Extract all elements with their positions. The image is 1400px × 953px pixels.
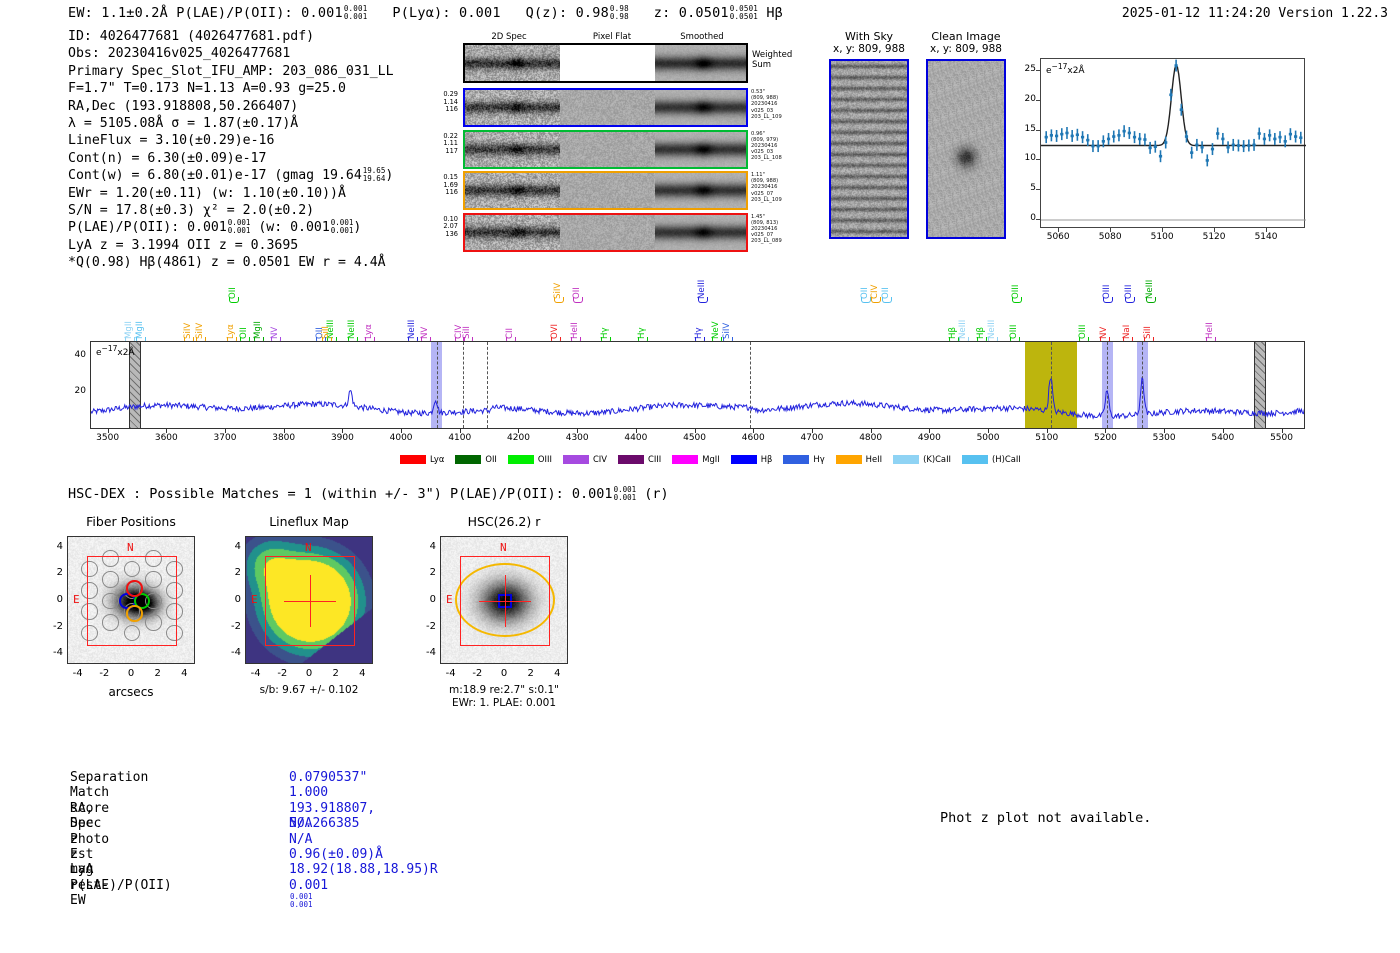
legend-swatch-Hγ bbox=[783, 455, 809, 464]
cutout-hsc-title: HSC(26.2) r bbox=[410, 514, 598, 529]
match-value-6: 18.92(18.88,18.95)R bbox=[289, 862, 438, 877]
full-xtick-mark bbox=[695, 429, 696, 433]
weighted-sum-2dspec bbox=[465, 45, 560, 81]
cutout-hsc-ytick-0: 0 bbox=[416, 594, 436, 605]
spec2d-row-2-info: 1.11"(809, 988)20230416v025_07203_LL_109 bbox=[751, 172, 811, 203]
full-xtick-mark bbox=[636, 429, 637, 433]
zoom-xtick-mark bbox=[1162, 228, 1163, 232]
plae-ratio-bounds: 0.0010.001 bbox=[344, 5, 368, 21]
full-xtick-3700: 3700 bbox=[200, 433, 250, 443]
full-xtick-mark bbox=[518, 429, 519, 433]
hscdex-header: HSC-DEX : Possible Matches = 1 (within +… bbox=[68, 486, 669, 502]
match-key-7: P(LAE)/P(OII) bbox=[70, 878, 172, 893]
spec2d-row-0-2dspec bbox=[465, 90, 560, 125]
zoom-ytick-mark bbox=[1036, 70, 1040, 71]
line-label-OII-31: OII bbox=[881, 249, 891, 299]
header-summary: EW: 1.1±0.2Å P(LAE)/P(OII): 0.0010.0010.… bbox=[68, 5, 783, 21]
zoom-ytick-20: 20 bbox=[1018, 94, 1036, 104]
cutout-clean-title: Clean Image bbox=[896, 30, 1036, 43]
cutout-hsc-compass-n: N bbox=[500, 541, 507, 554]
cutout-clean-image bbox=[926, 59, 1006, 239]
cutout-lineflux-xtick-4: 4 bbox=[346, 668, 378, 679]
cutout-lineflux-image: NE bbox=[245, 536, 373, 664]
spec2d-col-title-0: 2D Spec bbox=[464, 32, 554, 42]
legend-item-(K)CaII: (K)CaII bbox=[893, 454, 951, 464]
legend-label-HeII: HeII bbox=[866, 454, 882, 464]
zoom-ytick-5: 5 bbox=[1018, 183, 1036, 193]
spec2d-col-title-1: Pixel Flat bbox=[567, 32, 657, 42]
full-xtick-mark bbox=[166, 429, 167, 433]
detection-info-block: ID: 4026477681 (4026477681.pdf)Obs: 2023… bbox=[68, 28, 394, 272]
cutout-fiber-title: Fiber Positions bbox=[37, 514, 225, 529]
cutout-hsc-caption2: EWr: 1. PLAE: 0.001 bbox=[404, 697, 604, 710]
full-xtick-5200: 5200 bbox=[1080, 433, 1130, 443]
full-xtick-4100: 4100 bbox=[435, 433, 485, 443]
full-xtick-mark bbox=[1164, 429, 1165, 433]
full-ytick-40: 40 bbox=[64, 350, 86, 360]
full-xtick-4200: 4200 bbox=[493, 433, 543, 443]
zoom-xtick-5120: 5120 bbox=[1192, 232, 1236, 242]
header-z-line: Hβ bbox=[766, 5, 783, 21]
full-ytick-20: 20 bbox=[64, 386, 86, 396]
line-label-NeIII-35: NeIII bbox=[987, 289, 997, 339]
full-xtick-mark bbox=[460, 429, 461, 433]
line-label-SiIV-2: SiIV bbox=[183, 289, 193, 339]
hscdex-plae-bounds: 0.0010.001 bbox=[614, 486, 637, 502]
line-label-HeII-22: HeII bbox=[570, 289, 580, 339]
zoom-ytick-0: 0 bbox=[1018, 213, 1036, 223]
spec2d-row-3-smoothed bbox=[655, 215, 746, 250]
line-label-SiII-44: SiII bbox=[1143, 289, 1153, 339]
zoom-units-label: e−17x2Å bbox=[1046, 62, 1085, 76]
full-xtick-5500: 5500 bbox=[1257, 433, 1307, 443]
match-value-3: N/A bbox=[289, 816, 312, 831]
spec2d-row-0 bbox=[463, 88, 748, 127]
cutout-lineflux-compass-e: E bbox=[251, 593, 258, 606]
weighted-sum-pixelflat bbox=[560, 45, 655, 81]
full-xtick-3600: 3600 bbox=[141, 433, 191, 443]
cutout-lineflux-ytick--2: -2 bbox=[221, 621, 241, 632]
cutout-lineflux-fov-box bbox=[265, 556, 355, 646]
line-label-Hβ-34: Hβ bbox=[976, 289, 986, 339]
legend-label-OII: OII bbox=[485, 454, 497, 464]
cutout-hsc-ytick--2: -2 bbox=[416, 621, 436, 632]
spec2d-row-2-smoothed bbox=[655, 173, 746, 208]
header-plya: P(Lyα): 0.001 bbox=[392, 5, 500, 21]
info-line-9: EWr = 1.20(±0.11) (w: 1.10(±0.10))Å bbox=[68, 185, 394, 202]
full-xtick-4700: 4700 bbox=[787, 433, 837, 443]
header-z: z: 0.0501 bbox=[654, 5, 729, 21]
line-label-MgII-0: MgII bbox=[124, 289, 134, 339]
legend-label-OIII: OIII bbox=[538, 454, 552, 464]
full-xtick-mark bbox=[284, 429, 285, 433]
cutout-lineflux-ytick-0: 0 bbox=[221, 594, 241, 605]
full-xtick-mark bbox=[1105, 429, 1106, 433]
line-label-NV-8: NV bbox=[270, 289, 280, 339]
line-label-NV-40: NV bbox=[1099, 289, 1109, 339]
zoom-xtick-5080: 5080 bbox=[1088, 232, 1132, 242]
info-line-8: Cont(w) = 6.80(±0.01)e-17 (gmag 19.6419.… bbox=[68, 167, 394, 184]
legend-swatch-Hβ bbox=[731, 455, 757, 464]
full-xtick-4000: 4000 bbox=[376, 433, 426, 443]
zoom-ytick-mark bbox=[1036, 159, 1040, 160]
cutout-fiber-image: NE bbox=[67, 536, 195, 664]
zoom-xtick-5100: 5100 bbox=[1140, 232, 1184, 242]
full-xtick-4900: 4900 bbox=[904, 433, 954, 443]
info-line-4: RA,Dec (193.918808,50.266407) bbox=[68, 98, 394, 115]
full-xtick-3900: 3900 bbox=[317, 433, 367, 443]
cutout-lineflux-caption: s/b: 9.67 +/- 0.102 bbox=[209, 684, 409, 697]
legend-label-(H)CaII: (H)CaII bbox=[992, 454, 1021, 464]
cutout-fiber-ytick-0: 0 bbox=[43, 594, 63, 605]
full-xtick-3800: 3800 bbox=[259, 433, 309, 443]
full-xtick-4300: 4300 bbox=[552, 433, 602, 443]
full-xtick-3500: 3500 bbox=[83, 433, 133, 443]
legend-label-(K)CaII: (K)CaII bbox=[923, 454, 951, 464]
zoom-xtick-mark bbox=[1110, 228, 1111, 232]
spec2d-row-0-smoothed bbox=[655, 90, 746, 125]
cutout-fiber-fov-box bbox=[87, 556, 177, 646]
line-label-SiIV-28: SiIV bbox=[722, 289, 732, 339]
legend-item-Hγ: Hγ bbox=[783, 454, 824, 464]
legend-label-CIV: CIV bbox=[593, 454, 607, 464]
zoom-ytick-25: 25 bbox=[1018, 64, 1036, 74]
zoom-xtick-mark bbox=[1214, 228, 1215, 232]
zoom-xtick-5140: 5140 bbox=[1244, 232, 1288, 242]
timestamp-version: 2025-01-12 11:24:20 Version 1.22.3 bbox=[1122, 6, 1388, 21]
legend-label-Hβ: Hβ bbox=[761, 454, 773, 464]
legend-item-HeII: HeII bbox=[836, 454, 882, 464]
full-xtick-mark bbox=[929, 429, 930, 433]
line-label-CIV-30: CIV bbox=[870, 249, 880, 299]
zoom-ytick-mark bbox=[1036, 100, 1040, 101]
cutout-hsc-xtick-4: 4 bbox=[541, 668, 573, 679]
zoom-ytick-mark bbox=[1036, 189, 1040, 190]
line-label-NaI-42: NaI bbox=[1122, 289, 1132, 339]
cutout-fiber-ytick--4: -4 bbox=[43, 647, 63, 658]
spec2d-row-3-pixelflat bbox=[560, 215, 655, 250]
line-label-OII-29: OII bbox=[860, 249, 870, 299]
legend-label-MgII: MgII bbox=[702, 454, 719, 464]
info-line-10: S/N = 17.8(±0.3) χ² = 2.0(±0.2) bbox=[68, 202, 394, 219]
cutout-fiber-ytick-2: 2 bbox=[43, 567, 63, 578]
cutout-fiber-ytick--2: -2 bbox=[43, 621, 63, 632]
full-xtick-mark bbox=[871, 429, 872, 433]
line-label-OIII-37: OIII bbox=[1009, 289, 1019, 339]
line-label-Lyα-13: Lyα bbox=[364, 289, 374, 339]
match-value-4: N/A bbox=[289, 832, 312, 847]
spec2d-row-3-info: 1.45"(809, 813)20230416v025_07203_LL_089 bbox=[751, 214, 811, 245]
weighted-sum-smoothed bbox=[655, 45, 746, 81]
legend-item-MgII: MgII bbox=[672, 454, 719, 464]
line-label-NeIII-12: NeIII bbox=[347, 289, 357, 339]
info-line-5: λ = 5105.08Å σ = 1.87(±0.17)Å bbox=[68, 115, 394, 132]
line-label-SiII-11: SiII bbox=[321, 289, 331, 339]
legend-swatch-(H)CaII bbox=[962, 455, 988, 464]
line-label-NeIII-33: NeIII bbox=[958, 289, 968, 339]
legend-label-CIII: CIII bbox=[648, 454, 661, 464]
line-label-SiII-17: SiII bbox=[462, 289, 472, 339]
match-key-6: mag bbox=[70, 862, 93, 877]
full-spectrum-trace bbox=[91, 342, 1305, 429]
full-xtick-mark bbox=[401, 429, 402, 433]
spec2d-row-0-info: 0.53"(809, 988)20230416v025_03203_LL_109 bbox=[751, 89, 811, 120]
line-label-HeII-45: HeII bbox=[1205, 289, 1215, 339]
spec2d-row-3-metrics: 0.102.07136 bbox=[418, 216, 458, 239]
photz-note: Phot z plot not available. bbox=[940, 810, 1151, 826]
spec2d-row-0-metrics: 0.291.14116 bbox=[418, 91, 458, 114]
spec2d-row-2-pixelflat bbox=[560, 173, 655, 208]
full-xtick-mark bbox=[988, 429, 989, 433]
qz-bounds: 0.980.98 bbox=[610, 5, 629, 21]
hscdex-filter: (r) bbox=[644, 486, 668, 502]
legend-item-OIII: OIII bbox=[508, 454, 552, 464]
full-xtick-mark bbox=[342, 429, 343, 433]
line-label-MgII-7: MgII bbox=[253, 289, 263, 339]
full-xtick-5400: 5400 bbox=[1198, 433, 1248, 443]
full-xtick-mark bbox=[753, 429, 754, 433]
cutout-clean-coords: x, y: 809, 988 bbox=[896, 43, 1036, 55]
legend-swatch-(K)CaII bbox=[893, 455, 919, 464]
spec2d-row-1-smoothed bbox=[655, 132, 746, 167]
line-label-SiIV-3: SiIV bbox=[195, 289, 205, 339]
legend-item-Hβ: Hβ bbox=[731, 454, 773, 464]
line-label-OVI-20: OVI bbox=[550, 289, 560, 339]
full-xtick-mark bbox=[1282, 429, 1283, 433]
legend-item-Lyα: Lyα bbox=[400, 454, 444, 464]
weighted-sum-row bbox=[463, 43, 748, 83]
legend-swatch-HeII bbox=[836, 455, 862, 464]
match-value-0: 0.0790537" bbox=[289, 770, 367, 785]
full-units-label: e−17x2Å bbox=[96, 344, 135, 358]
full-xtick-5100: 5100 bbox=[1022, 433, 1072, 443]
legend-label-Hγ: Hγ bbox=[813, 454, 824, 464]
z-bounds: 0.05010.0501 bbox=[730, 5, 758, 21]
line-label-MgII-1: MgII bbox=[135, 289, 145, 339]
line-label-OIII-38: OIII bbox=[1078, 289, 1088, 339]
cutout-fiber-xlabel: arcsecs bbox=[47, 686, 215, 699]
match-value-1: 1.000 bbox=[289, 785, 328, 800]
legend-item-CIII: CIII bbox=[618, 454, 661, 464]
spec2d-row-1-pixelflat bbox=[560, 132, 655, 167]
cutout-lineflux-ytick-2: 2 bbox=[221, 567, 241, 578]
cutout-lineflux-ytick-4: 4 bbox=[221, 541, 241, 552]
line-label-Hγ-26: Hγ bbox=[694, 289, 704, 339]
legend-swatch-OII bbox=[455, 455, 481, 464]
weighted-sum-label: WeightedSum bbox=[752, 50, 792, 70]
zoom-xtick-mark bbox=[1266, 228, 1267, 232]
line-label-Hγ-24: Hγ bbox=[637, 289, 647, 339]
match-value-7: 0.0010.0010.001 bbox=[289, 878, 328, 909]
legend-swatch-CIV bbox=[563, 455, 589, 464]
info-line-2: Primary Spec_Slot_IFU_AMP: 203_086_031_L… bbox=[68, 63, 394, 80]
zoom-xtick-mark bbox=[1058, 228, 1059, 232]
legend-item-CIV: CIV bbox=[563, 454, 607, 464]
line-label-NeV-27: NeV bbox=[711, 289, 721, 339]
legend-item-(H)CaII: (H)CaII bbox=[962, 454, 1021, 464]
info-line-3: F=1.7" T=0.173 N=1.13 A=0.93 g=25.0 bbox=[68, 80, 394, 97]
spectrum-legend: LyαOIIOIIICIVCIIIMgIIHβHγHeII(K)CaII(H)C… bbox=[400, 454, 1032, 464]
line-bracket-31 bbox=[882, 297, 892, 303]
info-line-7: Cont(n) = 6.30(±0.09)e-17 bbox=[68, 150, 394, 167]
match-value-5: 0.96(±0.09)Å bbox=[289, 847, 383, 862]
info-line-0: ID: 4026477681 (4026477681.pdf) bbox=[68, 28, 394, 45]
cutout-hsc-fov-box bbox=[460, 556, 550, 646]
legend-swatch-CIII bbox=[618, 455, 644, 464]
match-key-0: Separation bbox=[70, 770, 148, 785]
full-xtick-mark bbox=[1047, 429, 1048, 433]
legend-swatch-Lyα bbox=[400, 455, 426, 464]
cutout-fiber-compass-n: N bbox=[127, 541, 134, 554]
info-line-11: P(LAE)/P(OII): 0.0010.0010.001 (w: 0.001… bbox=[68, 219, 394, 236]
info-line-1: Obs: 20230416v025_4026477681 bbox=[68, 45, 394, 62]
full-xtick-5300: 5300 bbox=[1139, 433, 1189, 443]
cutout-hsc-ytick-4: 4 bbox=[416, 541, 436, 552]
zoom-ytick-15: 15 bbox=[1018, 124, 1036, 134]
cutout-hsc-ytick-2: 2 bbox=[416, 567, 436, 578]
legend-label-Lyα: Lyα bbox=[430, 454, 444, 464]
full-xtick-mark bbox=[1223, 429, 1224, 433]
spec2d-row-1 bbox=[463, 130, 748, 169]
line-label-Hβ-32: Hβ bbox=[948, 289, 958, 339]
zoom-ytick-mark bbox=[1036, 219, 1040, 220]
full-xtick-5000: 5000 bbox=[963, 433, 1013, 443]
line-label-CII-18: CII bbox=[505, 289, 515, 339]
cutout-hsc-compass-e: E bbox=[446, 593, 453, 606]
spec2d-row-3 bbox=[463, 213, 748, 252]
legend-swatch-OIII bbox=[508, 455, 534, 464]
zoom-spectrum-data bbox=[1041, 59, 1306, 229]
spec2d-row-2 bbox=[463, 171, 748, 210]
full-spectrum-plot bbox=[90, 341, 1305, 429]
line-label-NV-15: NV bbox=[420, 289, 430, 339]
full-xtick-mark bbox=[577, 429, 578, 433]
zoom-xtick-5060: 5060 bbox=[1036, 232, 1080, 242]
spec2d-row-0-pixelflat bbox=[560, 90, 655, 125]
full-xtick-4400: 4400 bbox=[611, 433, 661, 443]
full-xtick-mark bbox=[812, 429, 813, 433]
full-xtick-4500: 4500 bbox=[670, 433, 720, 443]
info-line-6: LineFlux = 3.10(±0.29)e-16 bbox=[68, 132, 394, 149]
zoom-spectrum-plot bbox=[1040, 58, 1305, 228]
spec2d-row-2-2dspec bbox=[465, 173, 560, 208]
line-label-NeIII-14: NeIII bbox=[407, 289, 417, 339]
cutout-sky-image bbox=[829, 59, 909, 239]
spec2d-row-3-2dspec bbox=[465, 215, 560, 250]
cutout-fiber-compass-e: E bbox=[73, 593, 80, 606]
cutout-lineflux-title: Lineflux Map bbox=[215, 514, 403, 529]
spec2d-col-title-2: Smoothed bbox=[657, 32, 747, 42]
zoom-ytick-10: 10 bbox=[1018, 153, 1036, 163]
zoom-ytick-mark bbox=[1036, 130, 1040, 131]
cutout-fiber-ytick-4: 4 bbox=[43, 541, 63, 552]
hscdex-header-text: HSC-DEX : Possible Matches = 1 (within +… bbox=[68, 486, 613, 502]
cutout-hsc-caption: m:18.9 re:2.7" s:0.1" bbox=[404, 684, 604, 697]
spec2d-row-1-metrics: 0.221.11117 bbox=[418, 133, 458, 156]
full-xtick-mark bbox=[108, 429, 109, 433]
cutout-lineflux-ytick--4: -4 bbox=[221, 647, 241, 658]
line-label-OII-6: OII bbox=[239, 289, 249, 339]
legend-swatch-MgII bbox=[672, 455, 698, 464]
full-xtick-mark bbox=[225, 429, 226, 433]
spec2d-row-1-2dspec bbox=[465, 132, 560, 167]
line-label-Lyα-5: Lyα bbox=[226, 289, 236, 339]
spec2d-row-1-info: 0.96"(809, 979)20230416v025_03203_LL_108 bbox=[751, 131, 811, 162]
full-xtick-4600: 4600 bbox=[728, 433, 778, 443]
legend-item-OII: OII bbox=[455, 454, 497, 464]
line-bracket-30 bbox=[871, 297, 881, 303]
line-label-Hγ-23: Hγ bbox=[600, 289, 610, 339]
header-qz: Q(z): 0.98 bbox=[526, 5, 609, 21]
cutout-hsc-ytick--4: -4 bbox=[416, 647, 436, 658]
spec2d-row-2-metrics: 0.151.69116 bbox=[418, 174, 458, 197]
cutout-fiber-xtick-4: 4 bbox=[168, 668, 200, 679]
header-summary-text: EW: 1.1±0.2Å P(LAE)/P(OII): 0.001 bbox=[68, 5, 343, 21]
cutout-lineflux-compass-n: N bbox=[305, 541, 312, 554]
cutout-hsc-image: NE bbox=[440, 536, 568, 664]
full-xtick-4800: 4800 bbox=[846, 433, 896, 443]
